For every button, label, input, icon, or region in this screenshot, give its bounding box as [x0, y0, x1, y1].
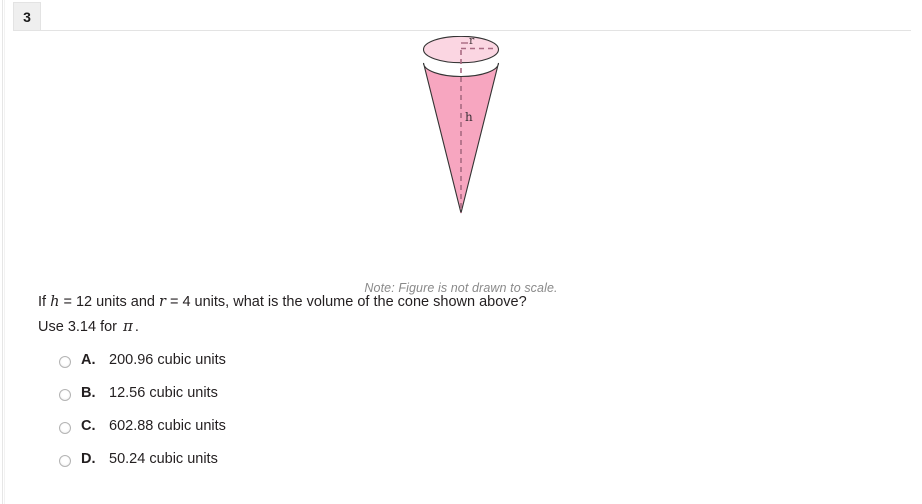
choice-d-text: 50.24 cubic units — [109, 451, 218, 467]
choice-b[interactable]: B. 12.56 cubic units — [59, 385, 759, 418]
question-text: If h = 12 units and r = 4 units, what is… — [38, 290, 858, 339]
choice-b-letter: B. — [81, 385, 109, 401]
choice-a-text: 200.96 cubic units — [109, 352, 226, 368]
figure-area: r h Note: Figure is not drawn to scale. — [0, 36, 922, 221]
choice-b-radio[interactable] — [59, 389, 71, 401]
question-variable-r: r — [159, 294, 166, 310]
question-mid-2: = 4 units, what is the volume of the con… — [166, 294, 527, 310]
choice-c-radio[interactable] — [59, 422, 71, 434]
answer-choices: A. 200.96 cubic units B. 12.56 cubic uni… — [59, 352, 759, 484]
tab-strip-divider — [13, 30, 911, 31]
choice-c-letter: C. — [81, 418, 109, 434]
choice-a-radio[interactable] — [59, 356, 71, 368]
question-line-2: Use 3.14 for π. — [38, 314, 858, 339]
question-pi-prefix: Use 3.14 for — [38, 319, 121, 335]
tab-question-3[interactable]: 3 — [13, 2, 41, 30]
cone-radius-label: r — [469, 36, 475, 47]
choice-d-letter: D. — [81, 451, 109, 467]
pi-symbol: π — [121, 317, 135, 335]
choice-a-letter: A. — [81, 352, 109, 368]
cone-height-label: h — [465, 110, 473, 124]
choice-c-text: 602.88 cubic units — [109, 418, 226, 434]
cone-top-face — [424, 36, 499, 62]
choice-b-text: 12.56 cubic units — [109, 385, 218, 401]
question-prefix: If — [38, 294, 50, 310]
tab-question-3-label: 3 — [23, 10, 31, 24]
choice-a[interactable]: A. 200.96 cubic units — [59, 352, 759, 385]
choice-c[interactable]: C. 602.88 cubic units — [59, 418, 759, 451]
choice-d[interactable]: D. 50.24 cubic units — [59, 451, 759, 484]
cone-diagram: r h — [411, 36, 511, 221]
question-tab-strip: 3 — [0, 0, 922, 31]
question-pi-suffix: . — [135, 319, 139, 335]
cone-body — [424, 63, 499, 213]
choice-d-radio[interactable] — [59, 455, 71, 467]
question-mid-1: = 12 units and — [59, 294, 159, 310]
